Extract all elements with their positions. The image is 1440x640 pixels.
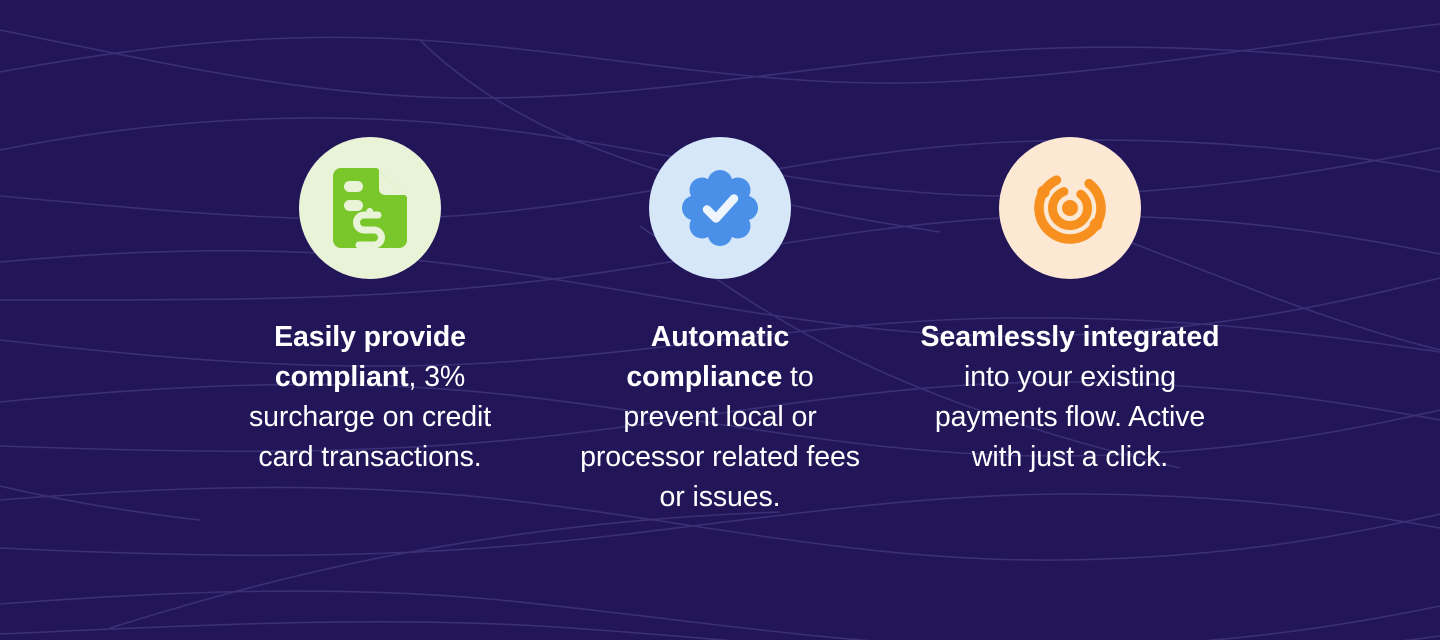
feature-text-compliant-surcharge: Easily provide compliant, 3% surcharge o… — [222, 317, 518, 477]
feature-bold-text-3: Seamlessly integrated — [921, 321, 1220, 353]
feature-rest-text-3: into your existing payments flow. Active… — [935, 361, 1205, 473]
document-dollar-icon — [333, 168, 407, 248]
verified-badge-check-icon — [680, 168, 760, 248]
feature-card-automatic-compliance: Automatic compliance to prevent local or… — [570, 137, 870, 517]
feature-card-compliant-surcharge: Easily provide compliant, 3% surcharge o… — [220, 137, 520, 477]
target-radar-icon — [1029, 167, 1111, 249]
icon-circle-blue — [649, 137, 791, 279]
feature-text-automatic-compliance: Automatic compliance to prevent local or… — [579, 317, 861, 517]
feature-text-seamless-integration: Seamlessly integrated into your existing… — [920, 317, 1220, 477]
icon-circle-green — [299, 137, 441, 279]
feature-bold-text-2: Automatic compliance — [626, 321, 789, 393]
icon-circle-peach — [999, 137, 1141, 279]
feature-card-seamless-integration: Seamlessly integrated into your existing… — [920, 137, 1220, 477]
features-row: Easily provide compliant, 3% surcharge o… — [0, 0, 1440, 640]
